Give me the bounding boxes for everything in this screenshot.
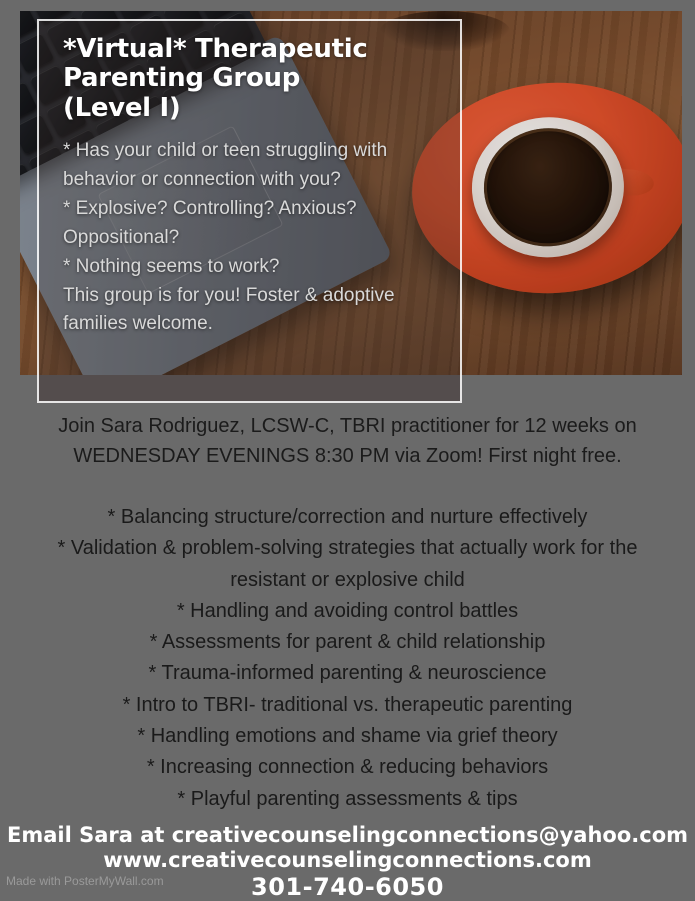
intro-line-2: behavior or connection with you? xyxy=(63,166,440,195)
schedule-line-2: WEDNESDAY EVENINGS 8:30 PM via Zoom! Fir… xyxy=(0,441,695,471)
contact-footer: Email Sara at creativecounselingconnecti… xyxy=(0,823,695,901)
headline-frame: *Virtual* Therapeutic Parenting Group (L… xyxy=(37,19,462,403)
email-line[interactable]: Email Sara at creativecounselingconnecti… xyxy=(0,823,695,848)
title-line-3: (Level I) xyxy=(63,94,440,123)
intro-text-block: * Has your child or teen struggling with… xyxy=(63,137,440,339)
list-item: * Validation & problem-solving strategie… xyxy=(22,533,673,596)
intro-line-4: Oppositional? xyxy=(63,224,440,253)
title-line-2: Parenting Group xyxy=(63,64,440,93)
intro-line-5: * Nothing seems to work? xyxy=(63,253,440,282)
intro-line-7: families welcome. xyxy=(63,310,440,339)
list-item: * Handling and avoiding control battles xyxy=(22,596,673,627)
intro-line-3: * Explosive? Controlling? Anxious? xyxy=(63,195,440,224)
postermywall-watermark: Made with PosterMyWall.com xyxy=(6,874,164,888)
list-item: * Balancing structure/correction and nur… xyxy=(22,502,673,533)
list-item: * Trauma-informed parenting & neuroscien… xyxy=(22,658,673,689)
intro-line-6: This group is for you! Foster & adoptive xyxy=(63,282,440,311)
headline-panel-text: *Virtual* Therapeutic Parenting Group (L… xyxy=(39,21,460,339)
schedule-text-block: Join Sara Rodriguez, LCSW-C, TBRI practi… xyxy=(0,411,695,471)
list-item: * Assessments for parent & child relatio… xyxy=(22,627,673,658)
list-item: * Intro to TBRI- traditional vs. therape… xyxy=(22,690,673,721)
title-line-1: *Virtual* Therapeutic xyxy=(63,35,440,64)
page-title: *Virtual* Therapeutic Parenting Group (L… xyxy=(63,35,440,123)
website-line[interactable]: www.creativecounselingconnections.com xyxy=(0,848,695,873)
list-item: * Handling emotions and shame via grief … xyxy=(22,721,673,752)
list-item: * Playful parenting assessments & tips xyxy=(22,784,673,815)
list-item: * Increasing connection & reducing behav… xyxy=(22,752,673,783)
schedule-line-1: Join Sara Rodriguez, LCSW-C, TBRI practi… xyxy=(0,411,695,441)
topics-list: * Balancing structure/correction and nur… xyxy=(0,502,695,815)
intro-line-1: * Has your child or teen struggling with xyxy=(63,137,440,166)
